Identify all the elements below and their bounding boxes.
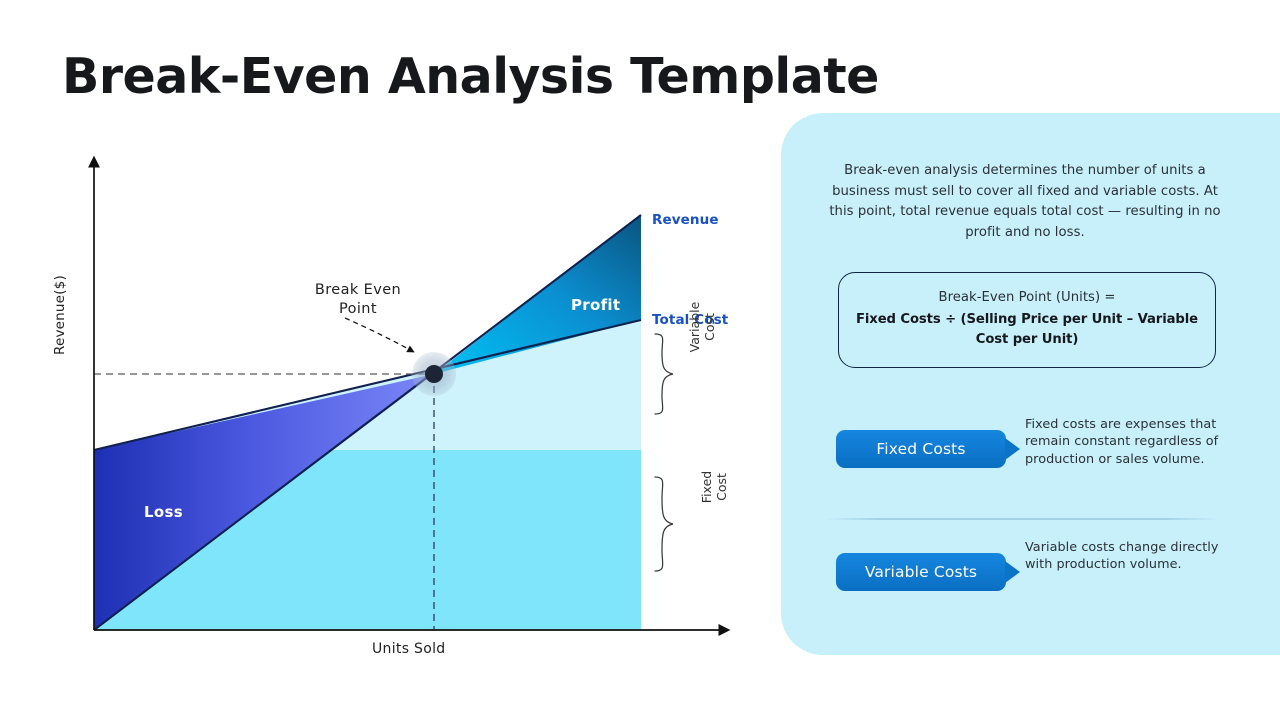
variable-costs-description: Variable costs change directly with prod… [1025, 539, 1225, 574]
variable-costs-badge[interactable]: Variable Costs [836, 553, 1006, 591]
fixed-costs-badge[interactable]: Fixed Costs [836, 430, 1006, 468]
break-even-arrow [345, 318, 414, 352]
break-even-dot[interactable] [425, 365, 443, 383]
info-panel: Break-even analysis determines the numbe… [781, 113, 1280, 655]
formula-title: Break-Even Point (Units) = [938, 290, 1115, 305]
fixed-costs-description: Fixed costs are expenses that remain con… [1025, 416, 1225, 468]
break-even-point-label: Break Even Point [310, 281, 406, 319]
fixed-cost-brace-label: Fixed Cost [699, 456, 729, 518]
variable-cost-brace-label: Variable Cost [687, 291, 717, 363]
revenue-series-label: Revenue [652, 212, 719, 228]
break-even-chart: Revenue($) Units Sold Break Even Point R… [0, 0, 780, 700]
x-axis-label: Units Sold [372, 641, 445, 657]
fixed-cost-brace [655, 477, 673, 571]
intro-paragraph: Break-even analysis determines the numbe… [827, 161, 1223, 243]
formula-body: Fixed Costs ÷ (Selling Price per Unit – … [853, 310, 1201, 350]
chart-canvas [0, 0, 780, 700]
variable-cost-brace [655, 334, 673, 414]
profit-region-label: Profit [571, 296, 620, 314]
loss-region-label: Loss [144, 503, 183, 521]
formula-box: Break-Even Point (Units) = Fixed Costs ÷… [838, 272, 1216, 368]
panel-divider [824, 518, 1220, 520]
y-axis-label: Revenue($) [52, 275, 68, 355]
